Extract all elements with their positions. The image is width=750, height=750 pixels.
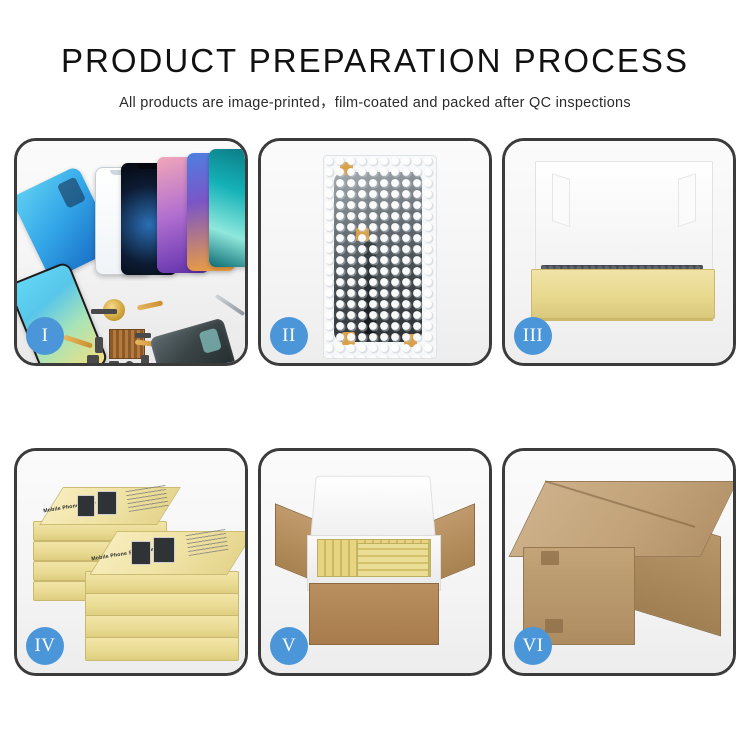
product-image-icon xyxy=(131,541,151,565)
step-badge: IV xyxy=(26,627,64,665)
retail-box-icon xyxy=(85,637,239,661)
carton-body-icon xyxy=(309,583,439,645)
bubble-wrap-bag-icon xyxy=(323,155,437,359)
step-badge: VI xyxy=(514,627,552,665)
process-step-panel-2[interactable]: II xyxy=(258,138,492,366)
packed-boxes-icon xyxy=(357,543,429,577)
phone-teal-icon xyxy=(209,149,248,267)
spare-part-icon xyxy=(141,355,149,366)
spare-part-icon xyxy=(109,361,119,366)
retail-box-icon xyxy=(85,593,239,617)
product-image-icon xyxy=(77,495,95,517)
product-image-icon xyxy=(97,491,117,515)
box-lid-icon xyxy=(535,161,713,273)
product-image-icon xyxy=(153,537,175,563)
box-flap-right-icon xyxy=(678,173,696,227)
step-badge: II xyxy=(270,317,308,355)
page-subtitle: All products are image-printed，film-coat… xyxy=(0,77,750,112)
process-step-panel-1[interactable]: I xyxy=(14,138,248,366)
process-step-panel-5[interactable]: V xyxy=(258,448,492,676)
process-step-panel-6[interactable]: VI xyxy=(502,448,736,676)
retail-box-icon xyxy=(85,615,239,639)
step-badge: III xyxy=(514,317,552,355)
box-tray-icon xyxy=(531,269,715,319)
bubble-texture-overlay xyxy=(324,156,436,358)
process-step-panel-3[interactable]: III xyxy=(502,138,736,366)
carton-top-icon xyxy=(508,481,736,557)
step-badge: I xyxy=(26,317,64,355)
step-badge: V xyxy=(270,627,308,665)
header: PRODUCT PREPARATION PROCESS All products… xyxy=(0,0,750,112)
spare-part-icon xyxy=(87,355,99,365)
spare-part-icon xyxy=(125,361,134,366)
page-title: PRODUCT PREPARATION PROCESS xyxy=(0,0,750,77)
carton-tab-icon xyxy=(545,619,563,633)
process-step-panel-4[interactable]: Mobile Phone Spare Parts Mobile Phone Sp… xyxy=(14,448,248,676)
product-preparation-process-page: PRODUCT PREPARATION PROCESS All products… xyxy=(0,0,750,750)
spare-part-icon xyxy=(135,333,151,338)
box-flap-left-icon xyxy=(552,173,570,227)
spare-part-icon xyxy=(91,309,117,314)
foam-lid-icon xyxy=(310,476,436,542)
carton-tab-icon xyxy=(541,551,559,565)
spare-part-icon xyxy=(95,337,103,353)
process-steps-grid: I II xyxy=(14,138,736,676)
